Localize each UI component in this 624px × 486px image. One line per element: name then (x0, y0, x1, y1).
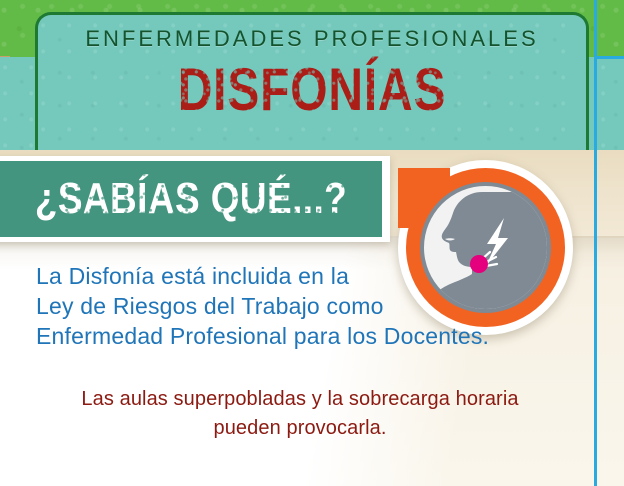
blue-line-2: Ley de Riesgos del Trabajo como (36, 292, 556, 322)
red-paragraph: Las aulas superpobladas y la sobrecarga … (60, 385, 540, 443)
page-title: DISFONÍAS (62, 58, 561, 121)
blue-paragraph: La Disfonía está incluida en la Ley de R… (36, 262, 556, 352)
vertical-rule (594, 0, 597, 486)
blue-line-1: La Disfonía está incluida en la (36, 262, 556, 292)
kicker-text: ENFERMEDADES PROFESIONALES (0, 26, 624, 52)
callout-banner-label: ¿SABÍAS QUÉ...? (31, 161, 352, 237)
poster-canvas: ENFERMEDADES PROFESIONALES DISFONÍAS ¿SA… (0, 0, 624, 486)
red-line-1: Las aulas superpobladas y la sobrecarga … (60, 385, 540, 414)
horizontal-rule (594, 56, 624, 59)
blue-line-3: Enfermedad Profesional para los Docentes… (36, 322, 556, 352)
red-line-2: pueden provocarla. (60, 414, 540, 443)
